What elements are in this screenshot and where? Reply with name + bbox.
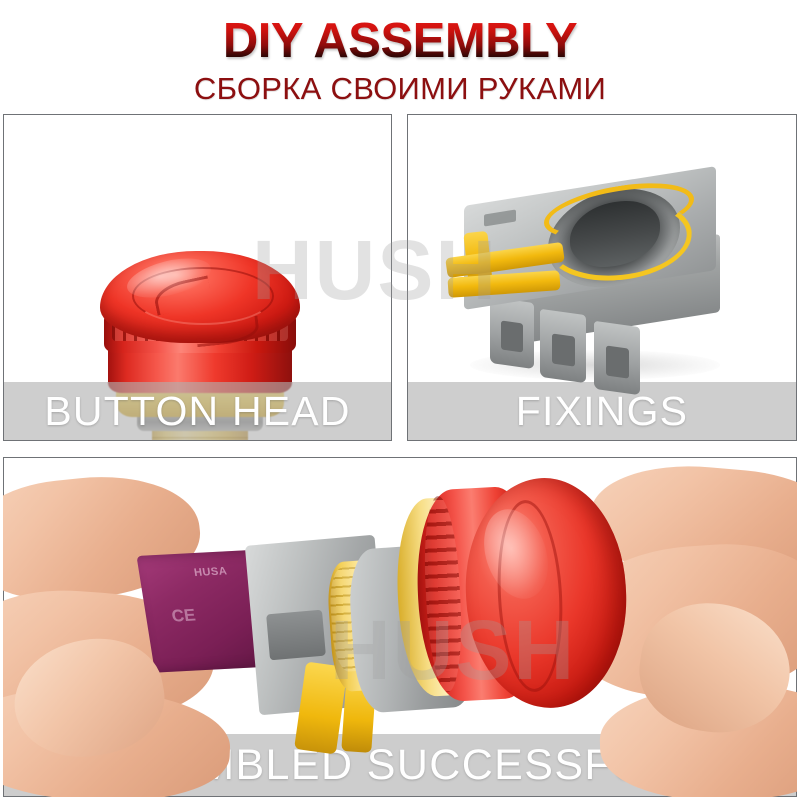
caption-assembled: ASSEMBLED SUCCESSFULLY	[78, 742, 722, 788]
infographic-page: DIY ASSEMBLY СБОРКА СВОИМИ РУКАМИ BUTTON…	[0, 0, 800, 800]
caption-button-head: BUTTON HEAD	[44, 388, 350, 434]
caption-band-assembled: ASSEMBLED SUCCESSFULLY	[4, 734, 796, 796]
caption-band-fixings: FIXINGS	[408, 382, 796, 440]
header: DIY ASSEMBLY СБОРКА СВОИМИ РУКАМИ	[0, 0, 800, 112]
page-title: DIY ASSEMBLY	[0, 14, 800, 68]
page-subtitle: СБОРКА СВОИМИ РУКАМИ	[0, 72, 800, 106]
caption-band-button-head: BUTTON HEAD	[4, 382, 391, 440]
panel-button-head: BUTTON HEAD	[3, 114, 392, 441]
panel-assembled: ASSEMBLED SUCCESSFULLY	[3, 457, 797, 797]
panel-fixings: FIXINGS	[407, 114, 797, 441]
caption-fixings: FIXINGS	[516, 388, 688, 434]
